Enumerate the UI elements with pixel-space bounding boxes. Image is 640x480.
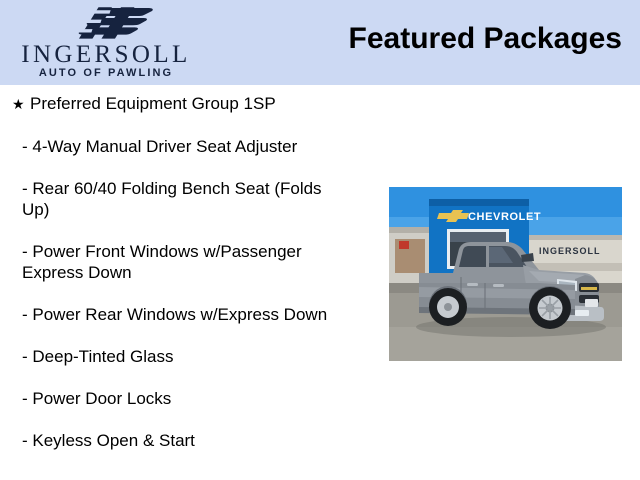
list-item: - Power Door Locks — [22, 388, 352, 409]
star-icon: ★ — [12, 93, 25, 115]
chevrolet-silverado-photo: CHEVROLET INGERSOLL — [389, 187, 622, 361]
svg-text:INGERSOLL: INGERSOLL — [539, 246, 601, 256]
list-item: - Power Front Windows w/Passenger Expres… — [22, 241, 352, 283]
brand-name: INGERSOLL — [8, 42, 204, 67]
equipment-group: ★ Preferred Equipment Group 1SP — [0, 85, 380, 115]
brand-tagline: AUTO OF PAWLING — [8, 68, 204, 79]
svg-text:CHEVROLET: CHEVROLET — [468, 211, 541, 223]
list-item: - Rear 60/40 Folding Bench Seat (Folds U… — [22, 178, 352, 220]
dealer-logo: INGERSOLL AUTO OF PAWLING — [0, 2, 210, 84]
featured-packages-list: ★ Preferred Equipment Group 1SP - 4-Way … — [0, 85, 380, 451]
list-item: - 4-Way Manual Driver Seat Adjuster — [22, 136, 352, 157]
feature-items: - 4-Way Manual Driver Seat Adjuster - Re… — [0, 136, 380, 451]
equipment-group-title: Preferred Equipment Group 1SP — [30, 93, 380, 115]
list-item: - Keyless Open & Start — [22, 430, 352, 451]
list-item: - Power Rear Windows w/Express Down — [22, 304, 352, 325]
list-item: - Deep-Tinted Glass — [22, 346, 352, 367]
page-header: INGERSOLL AUTO OF PAWLING Featured Packa… — [0, 0, 640, 85]
ingersoll-wing-logo — [48, 6, 166, 40]
page-title: Featured Packages — [349, 22, 622, 56]
